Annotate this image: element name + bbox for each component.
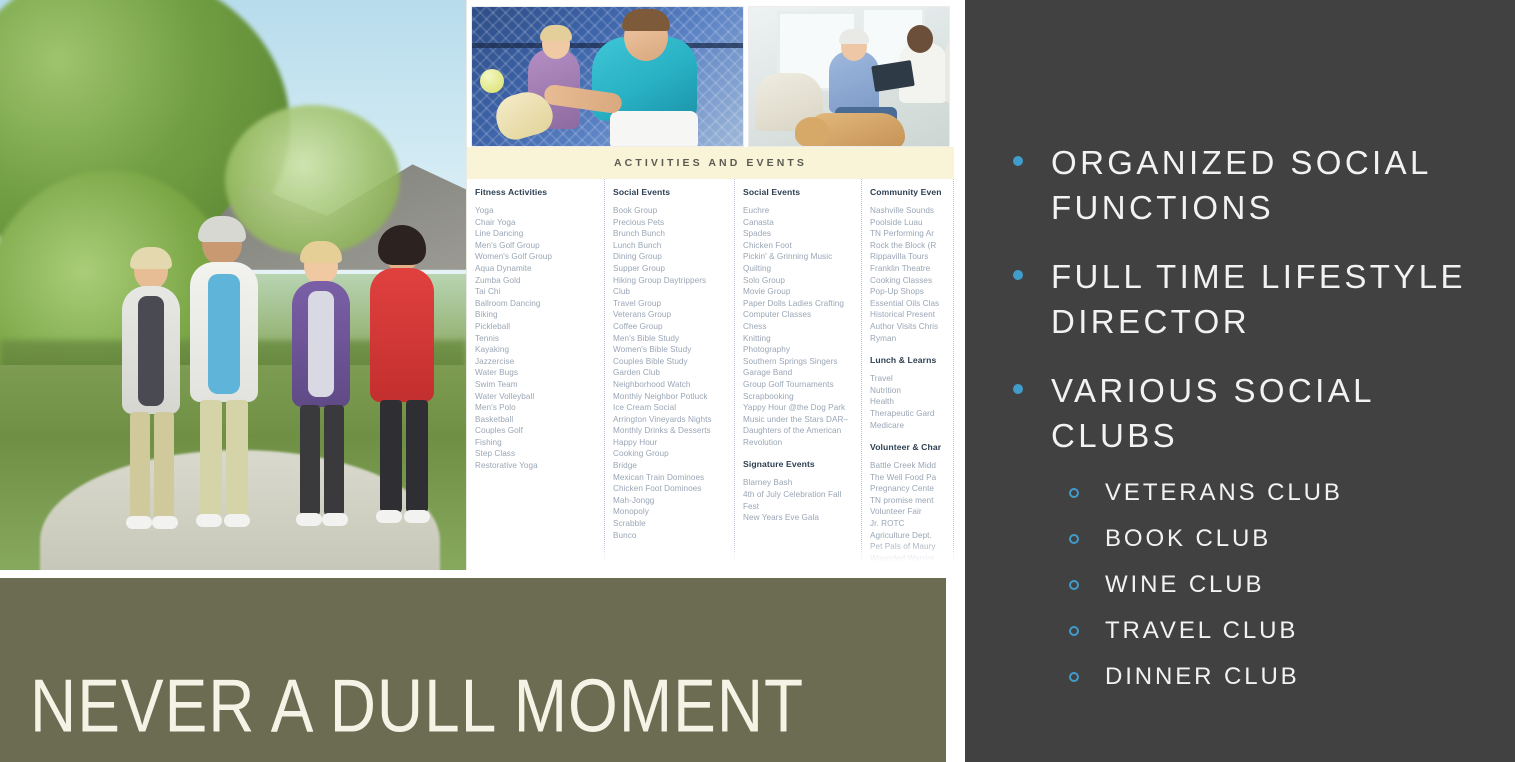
brochure-list-item: Nutrition xyxy=(870,385,947,397)
bullet-sublabel: TRAVEL CLUB xyxy=(1105,614,1298,648)
brochure-list-item: Supper Group xyxy=(613,263,728,275)
brochure-list-item: Basketball xyxy=(475,414,598,426)
brochure-list-item: Men's Bible Study xyxy=(613,333,728,345)
column-sub-items: TravelNutritionHealthTherapeutic GardMed… xyxy=(870,373,947,431)
brochure-list-item: Bridge xyxy=(613,460,728,472)
walker-2 xyxy=(122,252,184,552)
seated-person-center-head xyxy=(907,25,933,53)
seated-person-right xyxy=(945,37,950,103)
bullet-dot-icon xyxy=(1013,384,1023,394)
bullet-list: ORGANIZED SOCIAL FUNCTIONSFULL TIME LIFE… xyxy=(965,0,1515,706)
brochure-list-item: Neighborhood Watch xyxy=(613,379,728,391)
walker-3 xyxy=(292,247,354,552)
bullet-label: FULL TIME LIFESTYLE DIRECTOR xyxy=(1051,254,1471,344)
bullet-item-level-2: DINNER CLUB xyxy=(983,660,1495,694)
brochure-list-item: Book Group xyxy=(613,205,728,217)
brochure-column-social-1: Social Events Book GroupPrecious PetsBru… xyxy=(605,179,735,570)
foreground-player-hair xyxy=(622,9,670,31)
brochure-list-item: Couples Bible Study xyxy=(613,356,728,368)
brochure-list-item: Therapeutic Gard xyxy=(870,408,947,420)
brochure-list-item: Computer Classes xyxy=(743,309,855,321)
brochure-list-item: Poolside Luau xyxy=(870,217,947,229)
activities-brochure: ACTIVITIES AND EVENTS Fitness Activities… xyxy=(466,0,954,570)
brochure-list-item: Travel xyxy=(870,373,947,385)
walker-1 xyxy=(188,222,260,552)
brochure-list-item: Biking xyxy=(475,309,598,321)
brochure-list-item: Garden Club xyxy=(613,367,728,379)
bullet-circle-icon xyxy=(1069,626,1079,636)
brochure-list-item: Essential Oils Clas xyxy=(870,298,947,310)
brochure-list-item: Kayaking xyxy=(475,344,598,356)
brochure-list-item: Bunco xyxy=(613,530,728,542)
column-subheading: Lunch & Learns xyxy=(870,355,947,365)
book-club-photo xyxy=(748,6,950,147)
brochure-list-item: Tai Chi xyxy=(475,286,598,298)
brochure-list-item: Yoga xyxy=(475,205,598,217)
brochure-list-item: Dining Group xyxy=(613,251,728,263)
brochure-photo-strip xyxy=(467,6,954,147)
bullet-circle-icon xyxy=(1069,534,1079,544)
bullet-circle-icon xyxy=(1069,488,1079,498)
brochure-list-item: Travel Group xyxy=(613,298,728,310)
brochure-list-item: Battle Creek Midd xyxy=(870,460,947,472)
pickleball-photo xyxy=(471,6,744,147)
brochure-list-item: Movie Group xyxy=(743,286,855,298)
bullet-sublabel: DINNER CLUB xyxy=(1105,660,1300,694)
brochure-list-item: Rippavilla Tours xyxy=(870,251,947,263)
column-heading: Social Events xyxy=(743,187,855,197)
brochure-list-item: Medicare xyxy=(870,420,947,432)
brochure-list-item: Couples Golf xyxy=(475,425,598,437)
bullet-item-level-2: BOOK CLUB xyxy=(983,522,1495,556)
brochure-column-fitness: Fitness Activities YogaChair YogaLine Da… xyxy=(467,179,605,570)
brochure-list-item: Rock the Block (R xyxy=(870,240,947,252)
bullet-sublist: VETERANS CLUBBOOK CLUBWINE CLUBTRAVEL CL… xyxy=(983,476,1495,694)
column-items: EuchreCanastaSpadesChicken FootPickin' &… xyxy=(743,205,855,448)
bullet-item-level-2: TRAVEL CLUB xyxy=(983,614,1495,648)
brochure-list-item: Yappy Hour @the Dog Park xyxy=(743,402,855,414)
brochure-band: ACTIVITIES AND EVENTS xyxy=(467,147,954,179)
brochure-list-item: Cooking Group xyxy=(613,448,728,460)
slide-title: NEVER A DULL MOMENT xyxy=(30,663,804,748)
brochure-list-item: Southern Springs Singers xyxy=(743,356,855,368)
brochure-list-item: Wounded Warrior xyxy=(870,553,947,565)
bullet-label: ORGANIZED SOCIAL FUNCTIONS xyxy=(1051,140,1471,230)
brochure-band-title: ACTIVITIES AND EVENTS xyxy=(467,147,954,179)
bullet-circle-icon xyxy=(1069,580,1079,590)
brochure-list-item: Nashville Sounds xyxy=(870,205,947,217)
brochure-list-item: Pickleball xyxy=(475,321,598,333)
brochure-list-item: Monthly Neighbor Potluck xyxy=(613,391,728,403)
brochure-list-item: Canasta xyxy=(743,217,855,229)
background-player-hair xyxy=(540,25,572,41)
walker-4 xyxy=(370,232,440,552)
column-subheading-2: Volunteer & Char xyxy=(870,442,947,452)
pickleball-ball xyxy=(480,69,504,93)
brochure-list-item: Quilting xyxy=(743,263,855,275)
brochure-list-item: Zumba Gold xyxy=(475,275,598,287)
brochure-list-item: Arrington Vineyards Nights xyxy=(613,414,728,426)
column-items: Book GroupPrecious PetsBrunch BunchLunch… xyxy=(613,205,728,541)
brochure-list-item: Home of TN xyxy=(870,564,947,570)
brochure-list-item: Fishing xyxy=(475,437,598,449)
right-content-panel: ORGANIZED SOCIAL FUNCTIONSFULL TIME LIFE… xyxy=(965,0,1515,762)
brochure-list-item: Pop-Up Shops xyxy=(870,286,947,298)
brochure-list-item: Group Golf Tournaments xyxy=(743,379,855,391)
foreground-player-shorts xyxy=(610,111,698,147)
brochure-list-item: TN Performing Ar xyxy=(870,228,947,240)
brochure-list-item: Revolution xyxy=(743,437,855,449)
brochure-list-item: Men's Polo xyxy=(475,402,598,414)
brochure-list-item: Scrabble xyxy=(613,518,728,530)
brochure-list-item: Garage Band xyxy=(743,367,855,379)
brochure-list-item: Pregnancy Cente xyxy=(870,483,947,495)
brochure-list-item: Ryman xyxy=(870,333,947,345)
brochure-list-item: Solo Group xyxy=(743,275,855,287)
brochure-list-item: The Well Food Pa xyxy=(870,472,947,484)
brochure-list-item: Water Volleyball xyxy=(475,391,598,403)
brochure-list-item: Fest xyxy=(743,501,855,513)
brochure-list-item: Chicken Foot xyxy=(743,240,855,252)
bullet-item-level-1: ORGANIZED SOCIAL FUNCTIONS xyxy=(983,140,1495,230)
bullet-sublabel: BOOK CLUB xyxy=(1105,522,1271,556)
brochure-list-item: 4th of July Celebration Fall xyxy=(743,489,855,501)
left-photo-senior-women-walking xyxy=(0,0,466,570)
bullet-sublabel: VETERANS CLUB xyxy=(1105,476,1343,510)
brochure-list-item: Mexican Train Dominoes xyxy=(613,472,728,484)
brochure-list-item: Restorative Yoga xyxy=(475,460,598,472)
column-sub-items-2: Battle Creek MiddThe Well Food PaPregnan… xyxy=(870,460,947,570)
column-heading: Social Events xyxy=(613,187,728,197)
brochure-list-item: Volunteer Fair xyxy=(870,506,947,518)
column-heading: Fitness Activities xyxy=(475,187,598,197)
bullet-dot-icon xyxy=(1013,270,1023,280)
brochure-list-item: Pet Pals of Maury xyxy=(870,541,947,553)
brochure-list-item: New Years Eve Gala xyxy=(743,512,855,524)
brochure-list-item: Jr. ROTC xyxy=(870,518,947,530)
bullet-item-level-2: VETERANS CLUB xyxy=(983,476,1495,510)
seated-woman-hair xyxy=(839,29,869,44)
brochure-list-item: Happy Hour xyxy=(613,437,728,449)
brochure-list-item: Scrapbooking xyxy=(743,391,855,403)
brochure-list-item: Precious Pets xyxy=(613,217,728,229)
brochure-list-item: Tennis xyxy=(475,333,598,345)
brochure-list-item: Water Bugs xyxy=(475,367,598,379)
column-subheading: Signature Events xyxy=(743,459,855,469)
brochure-list-item: Chair Yoga xyxy=(475,217,598,229)
presentation-slide: ACTIVITIES AND EVENTS Fitness Activities… xyxy=(0,0,1515,762)
brochure-list-item: Historical Present xyxy=(870,309,947,321)
brochure-list-item: Ice Cream Social xyxy=(613,402,728,414)
bullet-circle-icon xyxy=(1069,672,1079,682)
brochure-list-item: Hiking Group Daytrippers xyxy=(613,275,728,287)
brochure-list-item: Coffee Group xyxy=(613,321,728,333)
brochure-list-item: Men's Golf Group xyxy=(475,240,598,252)
dog-head xyxy=(795,117,829,147)
bullet-sublabel: WINE CLUB xyxy=(1105,568,1264,602)
brochure-list-item: Photography xyxy=(743,344,855,356)
brochure-list-item: Brunch Bunch xyxy=(613,228,728,240)
brochure-list-item: TN promise ment xyxy=(870,495,947,507)
bullet-item-level-2: WINE CLUB xyxy=(983,568,1495,602)
column-heading: Community Even xyxy=(870,187,947,197)
brochure-list-item: Women's Golf Group xyxy=(475,251,598,263)
brochure-list-item: Blarney Bash xyxy=(743,477,855,489)
brochure-list-item: Monthly Drinks & Desserts xyxy=(613,425,728,437)
slide-title-bar: NEVER A DULL MOMENT xyxy=(0,578,946,762)
brochure-list-item: Cooking Classes xyxy=(870,275,947,287)
brochure-list-item: Paper Dolls Ladies Crafting xyxy=(743,298,855,310)
brochure-list-item: Lunch Bunch xyxy=(613,240,728,252)
brochure-list-item: Aqua Dynamite xyxy=(475,263,598,275)
brochure-list-item: Women's Bible Study xyxy=(613,344,728,356)
brochure-list-item: Ballroom Dancing xyxy=(475,298,598,310)
brochure-list-item: Monopoly xyxy=(613,506,728,518)
bullet-dot-icon xyxy=(1013,156,1023,166)
brochure-list-item: Veterans Group xyxy=(613,309,728,321)
brochure-list-item: Step Class xyxy=(475,448,598,460)
brochure-list-item: Chicken Foot Dominoes xyxy=(613,483,728,495)
brochure-list-item: Agriculture Dept. xyxy=(870,530,947,542)
bullet-label: VARIOUS SOCIAL CLUBS xyxy=(1051,368,1471,458)
column-items: YogaChair YogaLine DancingMen's Golf Gro… xyxy=(475,205,598,472)
brochure-list-item: Knitting xyxy=(743,333,855,345)
brochure-columns: Fitness Activities YogaChair YogaLine Da… xyxy=(467,179,954,570)
brochure-list-item: Pickin' & Grinning Music xyxy=(743,251,855,263)
bullet-item-level-1: FULL TIME LIFESTYLE DIRECTOR xyxy=(983,254,1495,344)
brochure-list-item: Franklin Theatre xyxy=(870,263,947,275)
brochure-list-item: Spades xyxy=(743,228,855,240)
column-items: Nashville SoundsPoolside LuauTN Performi… xyxy=(870,205,947,344)
bullet-item-level-1: VARIOUS SOCIAL CLUBS xyxy=(983,368,1495,458)
brochure-list-item: Swim Team xyxy=(475,379,598,391)
brochure-list-item: Euchre xyxy=(743,205,855,217)
brochure-list-item: Jazzercise xyxy=(475,356,598,368)
brochure-list-item: Line Dancing xyxy=(475,228,598,240)
brochure-column-social-2: Social Events EuchreCanastaSpadesChicken… xyxy=(735,179,862,570)
brochure-list-item: Mah-Jongg xyxy=(613,495,728,507)
column-sub-items: Blarney Bash4th of July Celebration Fall… xyxy=(743,477,855,523)
brochure-list-item: Health xyxy=(870,396,947,408)
brochure-list-item: Club xyxy=(613,286,728,298)
brochure-list-item: Author Visits Chris xyxy=(870,321,947,333)
brochure-column-community: Community Even Nashville SoundsPoolside … xyxy=(862,179,954,570)
brochure-list-item: Daughters of the American xyxy=(743,425,855,437)
brochure-list-item: Chess xyxy=(743,321,855,333)
brochure-list-item: Music under the Stars DAR– xyxy=(743,414,855,426)
